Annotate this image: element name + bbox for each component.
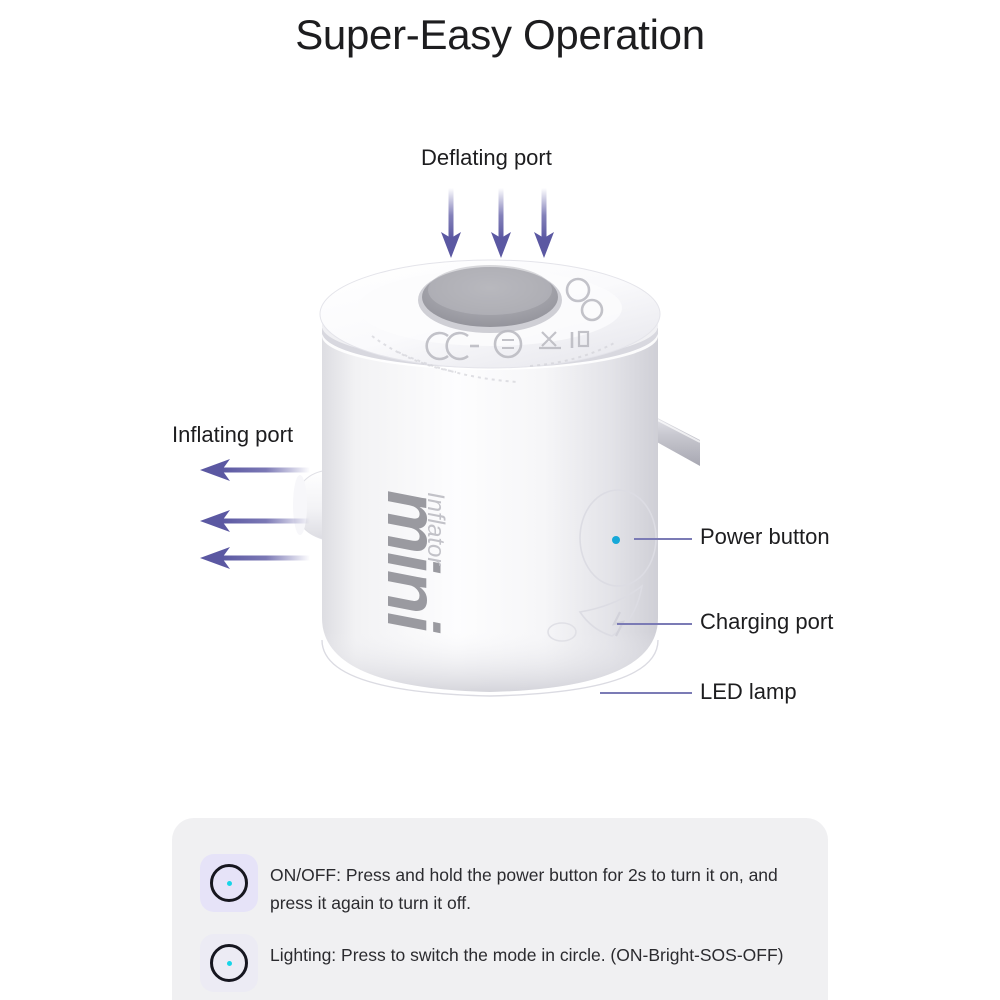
arrow-down-deflating-3 [533, 188, 555, 258]
arrow-left-inflating-2 [200, 509, 310, 533]
indicator-dot [227, 881, 232, 886]
callout-label-led-lamp: LED lamp [700, 681, 797, 703]
arrow-left-inflating-1 [200, 458, 310, 482]
inflator-device-svg: mini Inflator [280, 240, 700, 710]
callout-label-deflating-port: Deflating port [421, 147, 552, 169]
lighting-ring-icon [200, 934, 258, 992]
leader-line-led-lamp [600, 692, 692, 694]
indicator-dot [227, 961, 232, 966]
ring-outline [210, 944, 248, 982]
arrow-down-deflating-2 [490, 188, 512, 258]
instruction-panel: ON/OFF: Press and hold the power button … [172, 818, 828, 1000]
page-title: Super-Easy Operation [0, 8, 1000, 63]
instruction-text-lighting: Lighting: Press to switch the mode in ci… [270, 934, 783, 969]
instruction-row-onoff: ON/OFF: Press and hold the power button … [200, 854, 804, 918]
arrow-down-deflating-1 [440, 188, 462, 258]
power-ring-icon [200, 854, 258, 912]
instruction-row-lighting: Lighting: Press to switch the mode in ci… [200, 934, 804, 992]
svg-text:Inflator: Inflator [422, 492, 449, 566]
product-infographic: Super-Easy Operation [0, 0, 1000, 1000]
ring-outline [210, 864, 248, 902]
callout-label-charging-port: Charging port [700, 611, 833, 633]
brand-mark: mini Inflator [372, 490, 452, 634]
callout-label-power-button: Power button [700, 526, 830, 548]
leader-line-charging-port [617, 623, 692, 625]
instruction-text-onoff: ON/OFF: Press and hold the power button … [270, 854, 804, 918]
callout-label-inflating-port: Inflating port [172, 424, 293, 446]
leader-line-power-button [634, 538, 692, 540]
product-illustration: mini Inflator [280, 240, 700, 710]
arrow-left-inflating-3 [200, 546, 310, 570]
